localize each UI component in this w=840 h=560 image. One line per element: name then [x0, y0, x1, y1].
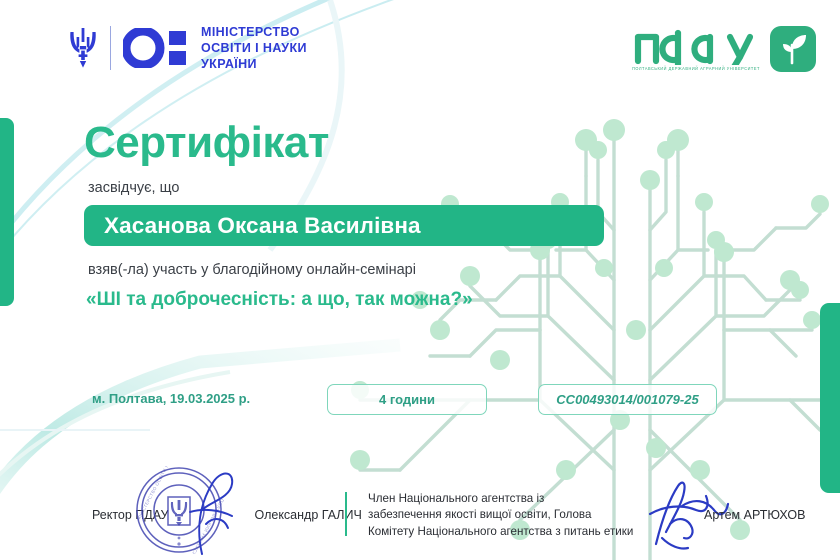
ministry-line-3: УКРАЇНИ	[201, 57, 257, 71]
agency-member-name: Артем АРТЮХОВ	[704, 508, 805, 522]
university-logo: ПОЛТАВСЬКИЙ ДЕРЖАВНИЙ АГРАРНИЙ УНІВЕРСИТ…	[632, 26, 816, 72]
left-accent-bar	[0, 118, 14, 306]
right-accent-bar	[820, 303, 840, 493]
recipient-name: Хасанова Оксана Василівна	[104, 213, 421, 239]
pdau-wordmark-block: ПОЛТАВСЬКИЙ ДЕРЖАВНИЙ АГРАРНИЙ УНІВЕРСИТ…	[632, 27, 760, 71]
pdau-wordmark-icon	[632, 27, 760, 65]
university-subtitle: ПОЛТАВСЬКИЙ ДЕРЖАВНИЙ АГРАРНИЙ УНІВЕРСИТ…	[632, 66, 760, 72]
place-and-date: м. Полтава, 19.03.2025 р.	[92, 391, 250, 406]
recipient-name-banner: Хасанова Оксана Василівна	[84, 205, 604, 246]
circuit-tree-graphic	[0, 0, 840, 560]
rector-handwritten-signature	[186, 466, 256, 556]
ministry-line-2: ОСВІТИ І НАУКИ	[201, 41, 307, 55]
certificate-document: МІНІСТЕРСТВО ОСВІТИ І НАУКИ УКРАЇНИ ПОЛТ…	[0, 0, 840, 560]
leaf-sprout-icon	[770, 26, 816, 72]
background-decoration	[0, 0, 840, 560]
ministry-name: МІНІСТЕРСТВО ОСВІТИ І НАУКИ УКРАЇНИ	[201, 24, 307, 72]
seminar-title: «ШІ та доброчесність: а що, так можна?»	[86, 289, 473, 311]
ministry-logo: МІНІСТЕРСТВО ОСВІТИ І НАУКИ УКРАЇНИ	[68, 24, 307, 72]
signature-divider	[345, 492, 347, 536]
attests-label: засвідчує, що	[88, 180, 179, 196]
ministry-line-1: МІНІСТЕРСТВО	[201, 25, 300, 39]
page-title: Сертифікат	[84, 118, 329, 168]
circuit-node-dots	[350, 119, 839, 540]
duration-badge: 4 години	[327, 384, 487, 415]
logo-divider	[110, 26, 111, 70]
ministry-emblem-icon	[123, 28, 189, 68]
participation-line: взяв(-ла) участь у благодійному онлайн-с…	[88, 262, 416, 278]
certificate-number-badge: CC00493014/001079-25	[538, 384, 717, 415]
trident-icon	[68, 26, 98, 70]
